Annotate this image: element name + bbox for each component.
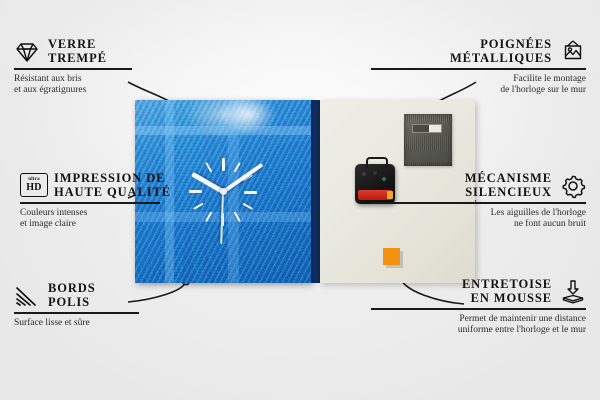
mechanism-hanging-tab [366,157,388,168]
callout-title: VERRE TREMPÉ [48,38,107,65]
callout-poignees-metalliques[interactable]: POIGNÉES MÉTALLIQUES Facilite le montage… [371,38,586,97]
metal-hanger-plate [404,114,452,166]
callout-verre-trempe[interactable]: VERRE TREMPÉ Résistant aux bris et aux é… [14,38,229,97]
callout-impression-haute-qualite[interactable]: ultra HD IMPRESSION DE HAUTE QUALITÉ Cou… [20,172,235,231]
ultra-hd-large-label: HD [26,183,42,193]
callout-subtitle: Facilite le montage de l'horloge sur le … [371,74,586,97]
callout-rule [14,68,132,70]
callout-subtitle: Permet de maintenir une distance uniform… [371,314,586,337]
foam-spacer-arrow-icon [560,279,586,305]
callout-subtitle: Les aiguilles de l'horloge ne font aucun… [371,208,586,231]
callout-rule [371,202,586,204]
callout-rule [20,202,160,204]
callout-title: POIGNÉES MÉTALLIQUES [450,38,552,65]
callout-title: ENTRETOISE EN MOUSSE [462,278,552,305]
foam-spacer [383,248,400,265]
callout-title: MÉCANISME SILENCIEUX [465,172,552,199]
callout-title: IMPRESSION DE HAUTE QUALITÉ [54,172,171,199]
polished-edges-icon [14,283,40,309]
callout-rule [14,312,139,314]
callout-subtitle: Surface lisse et sûre [14,318,229,330]
hanging-picture-icon [560,39,586,65]
hanger-slot [412,124,442,133]
gear-icon [560,173,586,199]
clock-edge [311,100,320,283]
ultra-hd-small-label: ultra [28,177,40,182]
callout-subtitle: Résistant aux bris et aux égratignures [14,74,229,97]
callout-entretoise-en-mousse[interactable]: ENTRETOISE EN MOUSSE Permet de maintenir… [371,278,586,337]
callout-mecanisme-silencieux[interactable]: MÉCANISME SILENCIEUX Les aiguilles de l'… [371,172,586,231]
callout-title: BORDS POLIS [48,282,96,309]
diamond-icon [14,39,40,65]
callout-rule [371,68,586,70]
callout-rule [371,308,586,310]
callout-bords-polis[interactable]: BORDS POLIS Surface lisse et sûre [14,282,229,329]
ultra-hd-icon: ultra HD [20,173,46,199]
infographic-canvas: VERRE TREMPÉ Résistant aux bris et aux é… [0,0,600,400]
callout-subtitle: Couleurs intenses et image claire [20,208,235,231]
